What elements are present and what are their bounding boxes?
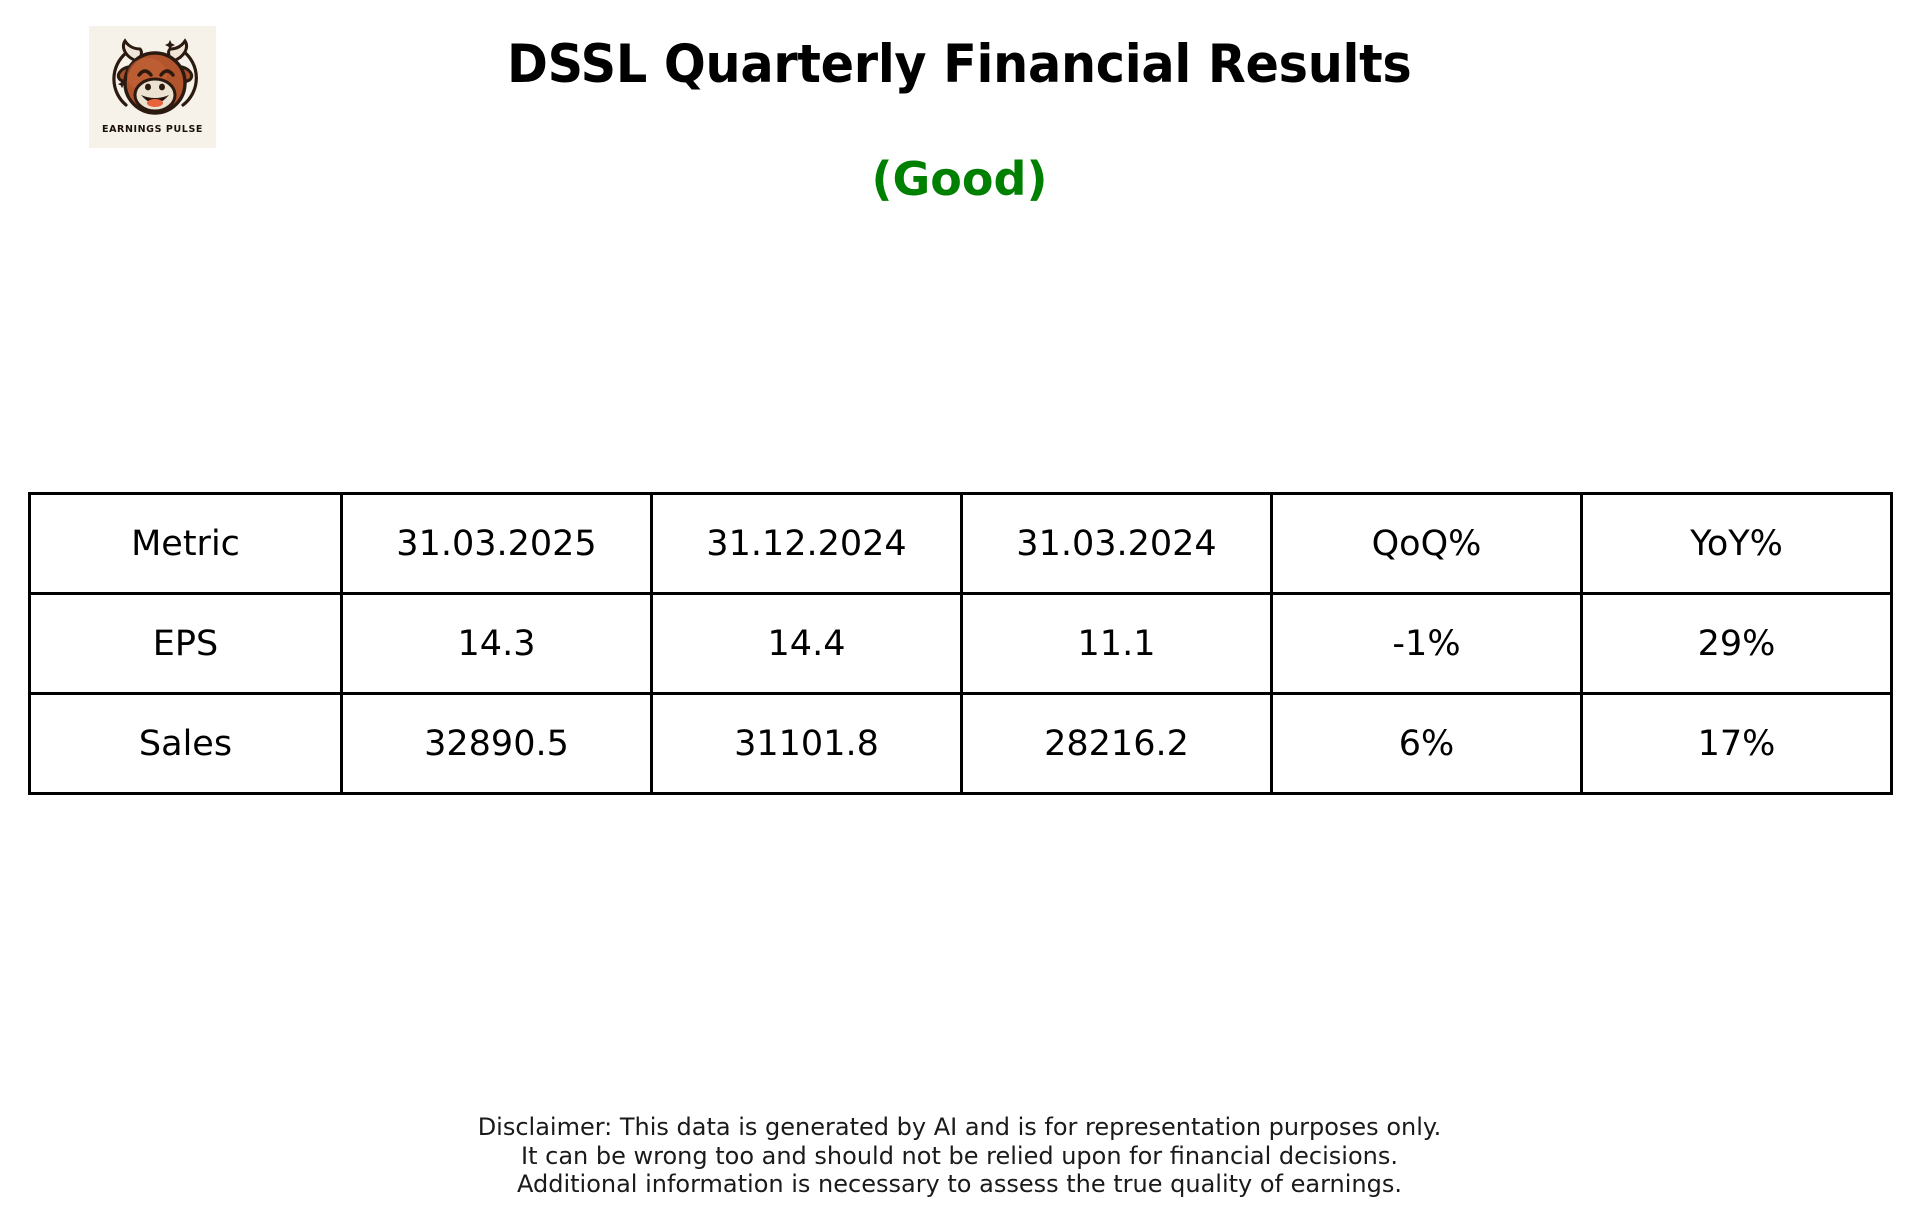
logo-caption: EARNINGS PULSE: [102, 124, 203, 135]
sales-value-31-03-2025: 32890.5: [342, 694, 652, 794]
sales-qoq-change: 6%: [1272, 694, 1582, 794]
sales-value-31-12-2024: 31101.8: [652, 694, 962, 794]
table-row: Sales 32890.5 31101.8 28216.2 6% 17%: [30, 694, 1892, 794]
eps-value-31-12-2024: 14.4: [652, 594, 962, 694]
column-header-yoy: YoY%: [1582, 494, 1892, 594]
sales-yoy-change: 17%: [1582, 694, 1892, 794]
eps-value-31-03-2024: 11.1: [962, 594, 1272, 694]
financial-results-table: Metric 31.03.2025 31.12.2024 31.03.2024 …: [28, 492, 1893, 795]
eps-qoq-change: -1%: [1272, 594, 1582, 694]
page-title-text: DSSL Quarterly Financial Results: [507, 34, 1411, 95]
column-header-date-1: 31.03.2025: [342, 494, 652, 594]
disclaimer: Disclaimer: This data is generated by AI…: [0, 1113, 1919, 1199]
disclaimer-line-3: Additional information is necessary to a…: [0, 1170, 1919, 1199]
column-header-metric: Metric: [30, 494, 342, 594]
result-quality-badge: (Good): [0, 152, 1919, 206]
column-header-date-2: 31.12.2024: [652, 494, 962, 594]
eps-value-31-03-2025: 14.3: [342, 594, 652, 694]
column-header-qoq: QoQ%: [1272, 494, 1582, 594]
page-title: DSSL Quarterly Financial Results: [0, 34, 1919, 95]
sales-value-31-03-2024: 28216.2: [962, 694, 1272, 794]
row-label-sales: Sales: [30, 694, 342, 794]
table-header-row: Metric 31.03.2025 31.12.2024 31.03.2024 …: [30, 494, 1892, 594]
disclaimer-line-2: It can be wrong too and should not be re…: [0, 1142, 1919, 1171]
eps-yoy-change: 29%: [1582, 594, 1892, 694]
row-label-eps: EPS: [30, 594, 342, 694]
disclaimer-line-1: Disclaimer: This data is generated by AI…: [0, 1113, 1919, 1142]
table-row: EPS 14.3 14.4 11.1 -1% 29%: [30, 594, 1892, 694]
column-header-date-3: 31.03.2024: [962, 494, 1272, 594]
